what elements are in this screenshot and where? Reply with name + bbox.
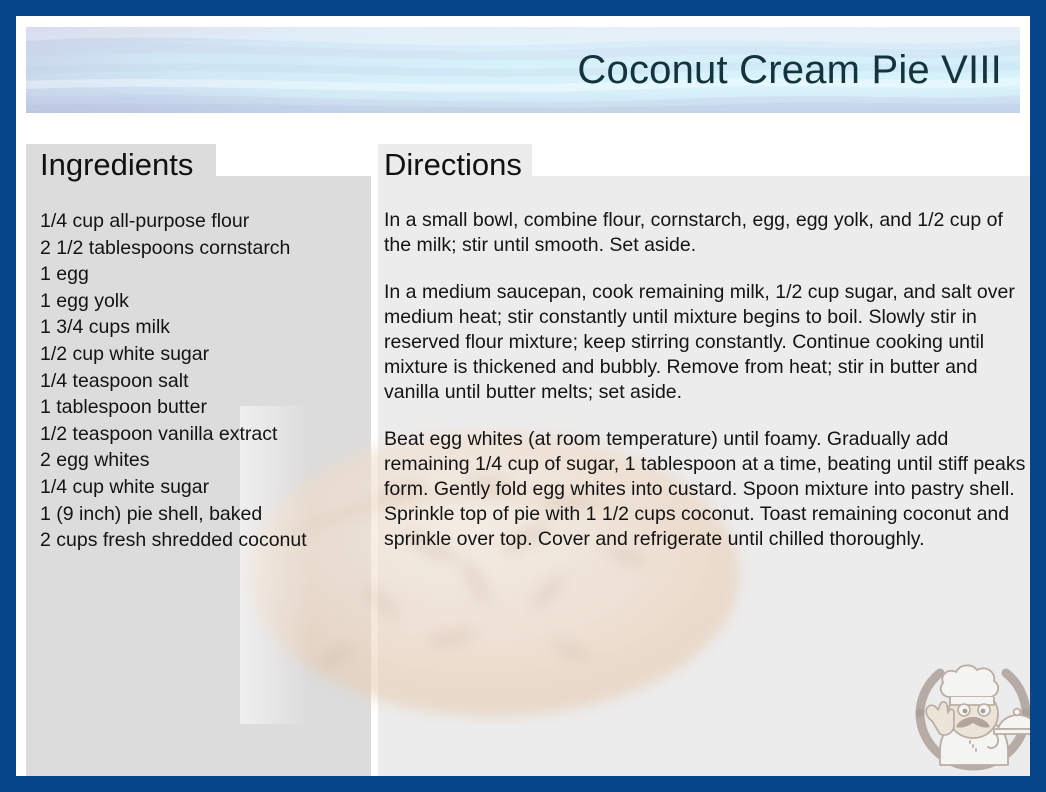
- list-item: 2 egg whites: [40, 447, 370, 474]
- direction-step: In a small bowl, combine flour, cornstar…: [384, 208, 1032, 258]
- list-item: 1 egg yolk: [40, 288, 370, 315]
- list-item: 1 egg: [40, 261, 370, 288]
- list-item: 1 tablespoon butter: [40, 394, 370, 421]
- list-item: 1 3/4 cups milk: [40, 314, 370, 341]
- list-item: 2 cups fresh shredded coconut: [40, 527, 370, 554]
- list-item: 1/4 cup white sugar: [40, 474, 370, 501]
- ingredient-list: 1/4 cup all-purpose flour 2 1/2 tablespo…: [40, 208, 370, 554]
- list-item: 1/2 teaspoon vanilla extract: [40, 421, 370, 448]
- list-item: 1 (9 inch) pie shell, baked: [40, 501, 370, 528]
- header-banner: Coconut Cream Pie VIII: [26, 27, 1020, 113]
- direction-step: In a medium saucepan, cook remaining mil…: [384, 280, 1032, 405]
- directions-heading: Directions: [384, 147, 522, 183]
- list-item: 1/4 cup all-purpose flour: [40, 208, 370, 235]
- recipe-card: Coconut Cream Pie VIII: [0, 0, 1046, 792]
- list-item: 1/4 teaspoon salt: [40, 368, 370, 395]
- list-item: 2 1/2 tablespoons cornstarch: [40, 235, 370, 262]
- ingredients-heading: Ingredients: [40, 147, 193, 183]
- direction-step: Beat egg whites (at room temperature) un…: [384, 427, 1032, 552]
- directions-text: In a small bowl, combine flour, cornstar…: [384, 208, 1032, 552]
- list-item: 1/2 cup white sugar: [40, 341, 370, 368]
- recipe-title: Coconut Cream Pie VIII: [577, 49, 1002, 91]
